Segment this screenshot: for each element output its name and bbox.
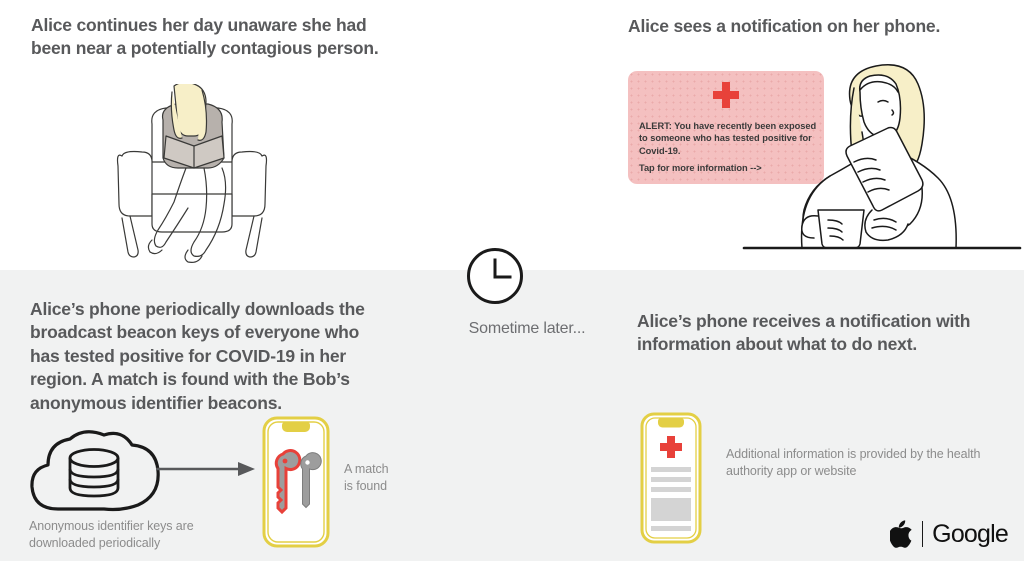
arrow-right-icon xyxy=(156,458,256,480)
phone-with-health-info-icon[interactable] xyxy=(640,412,702,544)
clock-icon xyxy=(466,247,524,305)
phone-with-two-keys-icon[interactable] xyxy=(262,416,330,548)
alice-reading-in-armchair-illustration xyxy=(108,84,276,266)
headline-bottom-right: Alice’s phone receives a notification wi… xyxy=(637,310,997,357)
headline-bottom-left: Alice’s phone periodically downloads the… xyxy=(30,298,380,415)
woman-with-phone-and-mug-illustration xyxy=(742,58,1022,253)
google-wordmark: Google xyxy=(932,522,1008,547)
infographic-canvas: Alice continues her day unaware she had … xyxy=(0,0,1024,561)
sometime-later-label: Sometime later... xyxy=(427,320,627,338)
cloud-caption: Anonymous identifier keys are downloaded… xyxy=(29,518,249,551)
brand-lockup: Google xyxy=(890,519,1008,549)
medical-cross-icon xyxy=(711,81,741,111)
health-authority-caption: Additional information is provided by th… xyxy=(726,446,986,479)
headline-top-right: Alice sees a notification on her phone. xyxy=(628,15,1018,38)
match-found-caption: A match is found xyxy=(344,461,434,494)
cloud-database-icon xyxy=(26,425,166,515)
apple-logo-icon xyxy=(890,520,913,548)
headline-top-left: Alice continues her day unaware she had … xyxy=(31,14,401,61)
brand-divider xyxy=(922,521,924,547)
